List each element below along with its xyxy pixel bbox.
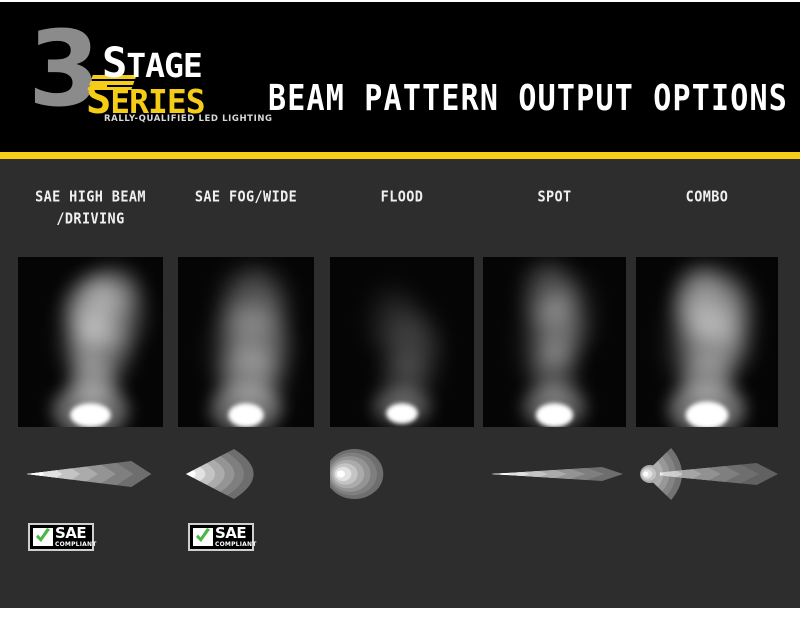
content-area: SAE HIGH BEAM /DRIVINGSAECOMPLIANTSAE FO… [0,159,800,608]
beam-photo-combo [636,257,778,427]
beam-spread-diagram-spot [483,444,626,504]
sae-compliant-badge: SAECOMPLIANT [188,523,254,551]
header-bar: 3 STAGE SERIES RALLY-QUALIFIED LED LIGHT… [0,2,800,152]
beam-column-label: COMBO [636,186,778,208]
beam-photo-sae-fog-wide [178,257,314,427]
sae-compliant-badge: SAECOMPLIANT [28,523,94,551]
sae-badge-title: SAE [55,526,97,541]
beam-spread-diagram-flood [330,444,474,504]
sae-badge-text: SAECOMPLIANT [215,526,257,548]
beam-column-sae-fog-wide: SAE FOG/WIDESAECOMPLIANT [178,159,314,608]
stage-series-logo: 3 STAGE SERIES RALLY-QUALIFIED LED LIGHT… [28,30,240,132]
beam-column-sae-high-beam-driving: SAE HIGH BEAM /DRIVINGSAECOMPLIANT [18,159,163,608]
beam-column-label: SAE HIGH BEAM /DRIVING [18,186,163,230]
beam-photo-spot [483,257,626,427]
beam-photo-flood [330,257,474,427]
sae-badge-subtitle: COMPLIANT [215,542,257,548]
page-title: BEAM PATTERN OUTPUT OPTIONS [268,78,788,119]
beam-column-label: SPOT [483,186,626,208]
logo-tagline: RALLY-QUALIFIED LED LIGHTING [104,114,273,124]
beam-column-spot: SPOT [483,159,626,608]
check-mark-icon [33,528,53,546]
beam-column-combo: COMBO [636,159,778,608]
beam-photo-sae-high-beam-driving [18,257,163,427]
sae-badge-text: SAECOMPLIANT [55,526,97,548]
check-mark-icon [193,528,213,546]
yellow-divider-stripe [0,152,800,159]
beam-column-flood: FLOOD [330,159,474,608]
sae-badge-subtitle: COMPLIANT [55,542,97,548]
beam-spread-diagram-sae-high-beam-driving [18,444,163,504]
beam-column-label: SAE FOG/WIDE [178,186,314,208]
sae-badge-title: SAE [215,526,257,541]
beam-pattern-infographic: 3 STAGE SERIES RALLY-QUALIFIED LED LIGHT… [0,0,800,622]
beam-spread-diagram-combo [636,444,778,504]
beam-column-label: FLOOD [330,186,474,208]
beam-spread-diagram-sae-fog-wide [178,444,314,504]
